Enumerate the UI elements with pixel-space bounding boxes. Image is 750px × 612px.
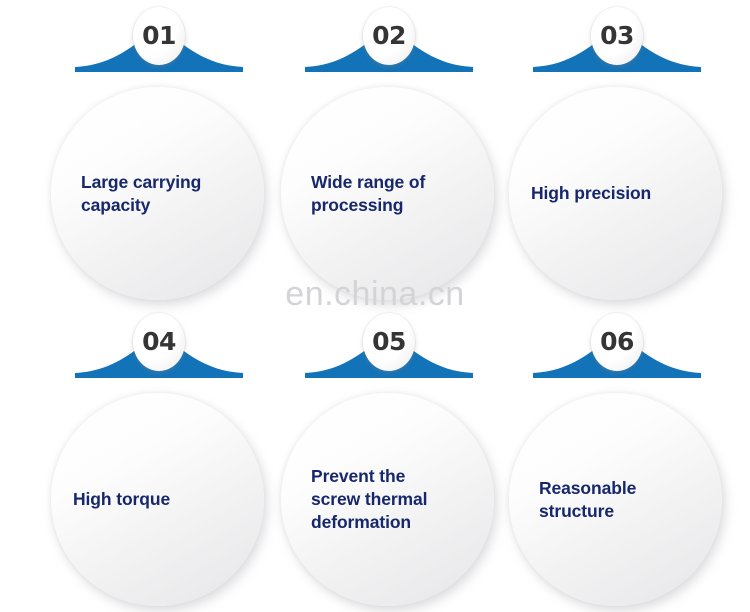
feature-caption: Reasonable structure — [509, 393, 722, 606]
step-number-label: 01 — [142, 23, 176, 48]
feature-card-02[interactable]: 02 Wide range of processing — [272, 2, 502, 302]
feature-card-01[interactable]: 01 Large carrying capacity — [42, 2, 272, 302]
feature-caption: Large carrying capacity — [51, 87, 264, 300]
feature-caption: Wide range of processing — [281, 87, 494, 300]
feature-card-06[interactable]: 06 Reasonable structure — [500, 308, 730, 608]
step-number-label: 03 — [600, 23, 634, 48]
feature-caption-text: Wide range of processing — [311, 171, 425, 217]
step-number-badge: 02 — [363, 7, 415, 65]
step-number-label: 06 — [600, 329, 634, 354]
step-number-label: 04 — [142, 329, 176, 354]
step-number-badge: 05 — [363, 313, 415, 371]
step-number-label: 02 — [372, 23, 406, 48]
step-number-label: 05 — [372, 329, 406, 354]
feature-card-04[interactable]: 04 High torque — [42, 308, 272, 608]
feature-caption-text: Prevent the screw thermal deformation — [311, 465, 427, 533]
feature-caption: High torque — [51, 393, 264, 606]
step-number-badge: 03 — [591, 7, 643, 65]
feature-caption: Prevent the screw thermal deformation — [281, 393, 494, 606]
feature-caption-text: Large carrying capacity — [81, 171, 201, 217]
feature-card-03[interactable]: 03 High precision — [500, 2, 730, 302]
feature-caption-text: High torque — [73, 488, 170, 511]
step-number-badge: 04 — [133, 313, 185, 371]
feature-card-05[interactable]: 05 Prevent the screw thermal deformation — [272, 308, 502, 608]
infographic-board: 01 Large carrying capacity 02 Wide range… — [0, 0, 750, 612]
step-number-badge: 06 — [591, 313, 643, 371]
feature-caption-text: Reasonable structure — [539, 477, 636, 523]
feature-caption: High precision — [509, 87, 722, 300]
step-number-badge: 01 — [133, 7, 185, 65]
feature-caption-text: High precision — [531, 182, 651, 205]
